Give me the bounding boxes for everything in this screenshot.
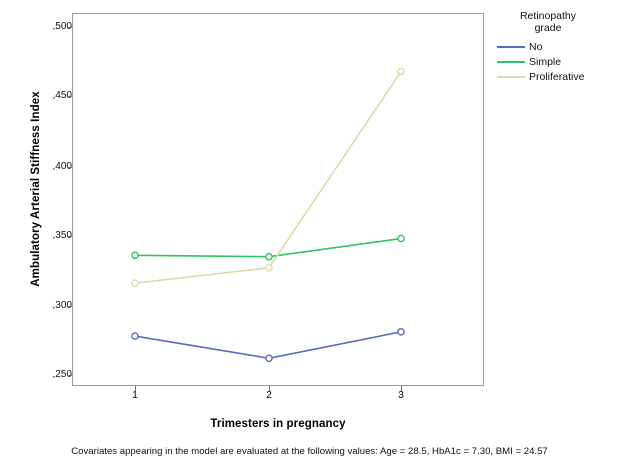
y-tick-label-400: ,400 (30, 162, 72, 172)
legend-item-label: No (529, 41, 542, 53)
legend: Retinopathy grade NoSimpleProliferative (497, 10, 615, 84)
y-tick-label-300: ,300 (30, 301, 72, 311)
plot-area (72, 13, 484, 386)
y-tick-label-250: ,250 (30, 370, 72, 380)
legend-item-simple[interactable]: Simple (497, 54, 615, 69)
legend-items: NoSimpleProliferative (497, 39, 615, 84)
legend-swatch-icon (497, 46, 525, 48)
x-tick-label-2: 2 (249, 391, 289, 401)
y-tick-mark-450 (67, 96, 72, 97)
legend-swatch-icon (497, 76, 525, 78)
y-tick-mark-250 (67, 375, 72, 376)
x-tick-label-1: 1 (115, 391, 155, 401)
legend-swatch-icon (497, 61, 525, 63)
legend-title: Retinopathy grade (497, 10, 599, 34)
y-tick-label-450: ,450 (30, 91, 72, 101)
y-tick-label-500: ,500 (30, 22, 72, 32)
y-tick-mark-400 (67, 167, 72, 168)
legend-title-line2: grade (497, 22, 599, 34)
legend-item-no[interactable]: No (497, 39, 615, 54)
x-axis-title: Trimesters in pregnancy (72, 418, 484, 430)
legend-item-label: Proliferative (529, 71, 584, 83)
y-tick-label-350: ,350 (30, 231, 72, 241)
y-tick-mark-500 (67, 27, 72, 28)
y-tick-mark-350 (67, 236, 72, 237)
footnote: Covariates appearing in the model are ev… (0, 446, 619, 458)
y-tick-mark-300 (67, 306, 72, 307)
line-chart: Ambulatory Arterial Stiffness Index ,500… (0, 0, 619, 469)
legend-item-label: Simple (529, 56, 561, 68)
legend-item-proliferative[interactable]: Proliferative (497, 69, 615, 84)
x-tick-label-3: 3 (381, 391, 421, 401)
legend-title-line1: Retinopathy (497, 10, 599, 22)
